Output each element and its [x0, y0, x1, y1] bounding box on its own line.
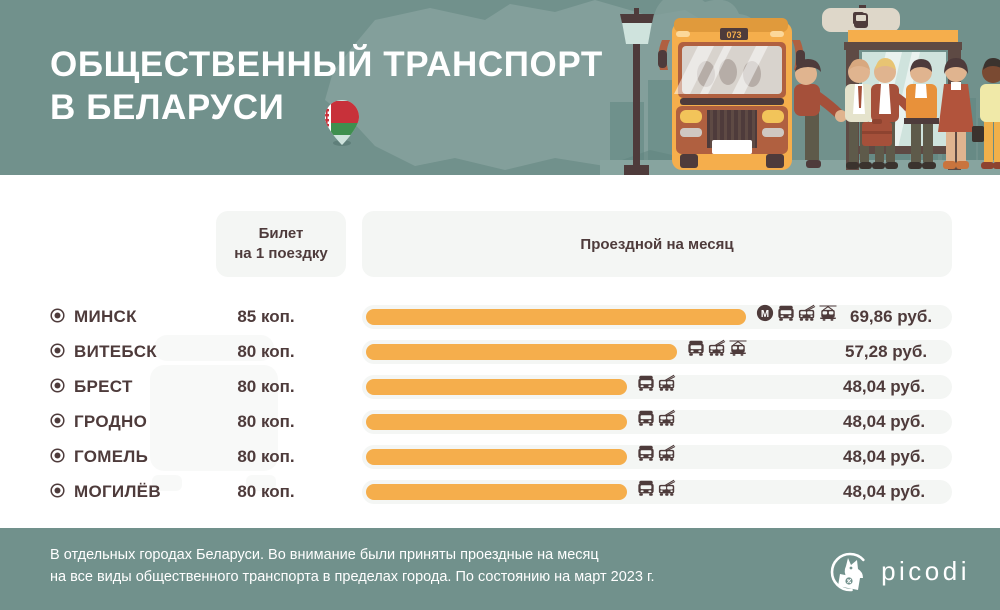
transport-mode-icons: [637, 481, 676, 499]
single-ticket-price: 80 коп.: [186, 338, 346, 366]
trolleybus-icon: [708, 339, 726, 362]
bus-icon: [687, 339, 705, 362]
city-name: МОГИЛЁВ: [74, 478, 161, 506]
bus-icon: [637, 374, 655, 397]
metro-icon: M: [756, 304, 774, 327]
street-lamp-icon: [620, 8, 654, 175]
header-banner: ОБЩЕСТВЕННЫЙ ТРАНСПОРТ В БЕЛАРУСИ: [0, 0, 1000, 175]
person-walking: [794, 59, 847, 168]
footer-bar: В отдельных городах Беларуси. Во внимани…: [0, 528, 1000, 610]
radio-dot-icon: [50, 343, 65, 358]
bar-fill: [366, 379, 627, 395]
monthly-pass-price: 48,04 руб.: [843, 478, 925, 506]
radio-dot-icon: [50, 378, 65, 393]
bar-fill: [366, 414, 627, 430]
single-ticket-price: 80 коп.: [186, 408, 346, 436]
radio-dot-icon: [50, 448, 65, 463]
radio-dot-icon: [50, 483, 65, 498]
monthly-pass-price: 48,04 руб.: [843, 408, 925, 436]
table-row: ВИТЕБСК80 коп.57,28 руб.: [0, 338, 1000, 366]
table-row: МОГИЛЁВ80 коп.48,04 руб.: [0, 478, 1000, 506]
city-name: ГОМЕЛЬ: [74, 443, 148, 471]
transport-mode-icons: [637, 376, 676, 394]
transport-mode-icons: [637, 446, 676, 464]
city-name: ВИТЕБСК: [74, 338, 157, 366]
table-row: ГРОДНО80 коп.48,04 руб.: [0, 408, 1000, 436]
trolleybus-icon: [658, 479, 676, 502]
trolleybus-icon: [658, 409, 676, 432]
monthly-pass-price: 48,04 руб.: [843, 443, 925, 471]
city-name: БРЕСТ: [74, 373, 133, 401]
bar-fill: [366, 449, 627, 465]
single-ticket-price: 80 коп.: [186, 478, 346, 506]
monthly-pass-price: 69,86 руб.: [850, 303, 932, 331]
radio-dot-icon: [50, 413, 65, 428]
single-ticket-price: 85 коп.: [186, 303, 346, 331]
trolleybus-icon: [658, 374, 676, 397]
bus-icon: [777, 304, 795, 327]
table-row: БРЕСТ80 коп.48,04 руб.: [0, 373, 1000, 401]
single-ticket-price: 80 коп.: [186, 443, 346, 471]
table-row: ГОМЕЛЬ80 коп.48,04 руб.: [0, 443, 1000, 471]
ticket-header-line-1: Билет: [259, 225, 304, 242]
tram-icon: [729, 339, 747, 362]
bus-vehicle-icon: 073: [658, 18, 805, 170]
footnote-line-2: на все виды общественного транспорта в п…: [50, 566, 770, 588]
single-ticket-price: 80 коп.: [186, 373, 346, 401]
column-header-monthly-pass: Проездной на месяц: [362, 211, 952, 277]
picodi-logo[interactable]: picodi: [828, 552, 970, 592]
city-name: ГРОДНО: [74, 408, 147, 436]
monthly-pass-price: 48,04 руб.: [843, 373, 925, 401]
bus-stop-with-people-illustration: 073: [600, 0, 1000, 175]
bus-icon: [637, 479, 655, 502]
column-header-ticket: Билет на 1 поездку: [216, 211, 346, 277]
trolleybus-icon: [798, 304, 816, 327]
footnote: В отдельных городах Беларуси. Во внимани…: [50, 544, 770, 589]
bar-fill: [366, 309, 746, 325]
tram-icon: [819, 304, 837, 327]
transport-mode-icons: M: [756, 306, 837, 324]
bus-stop-sign-icon: [822, 5, 900, 32]
transport-mode-icons: [687, 341, 747, 359]
footnote-line-1: В отдельных городах Беларуси. Во внимани…: [50, 544, 770, 566]
transport-mode-icons: [637, 411, 676, 429]
svg-text:M: M: [761, 309, 769, 320]
infographic-page: ОБЩЕСТВЕННЫЙ ТРАНСПОРТ В БЕЛАРУСИ: [0, 0, 1000, 610]
bus-icon: [637, 444, 655, 467]
title-line-1: ОБЩЕСТВЕННЫЙ ТРАНСПОРТ: [50, 45, 603, 84]
radio-dot-icon: [50, 308, 65, 323]
bar-fill: [366, 344, 677, 360]
belarus-flag-map-pin-icon: [322, 99, 362, 147]
bus-icon: [637, 409, 655, 432]
monthly-pass-price: 57,28 руб.: [845, 338, 927, 366]
bus-route-number: 073: [726, 30, 741, 40]
person-yellow-shirt: [980, 58, 1000, 169]
trolleybus-icon: [658, 444, 676, 467]
ticket-header-line-2: на 1 поездку: [234, 245, 327, 262]
city-name: МИНСК: [74, 303, 137, 331]
picodi-cat-coupon-logo-icon: [828, 552, 872, 592]
table-row: МИНСК85 коп.M69,86 руб.: [0, 303, 1000, 331]
pass-header-label: Проездной на месяц: [580, 236, 733, 253]
bar-fill: [366, 484, 627, 500]
picodi-wordmark: picodi: [881, 558, 970, 586]
